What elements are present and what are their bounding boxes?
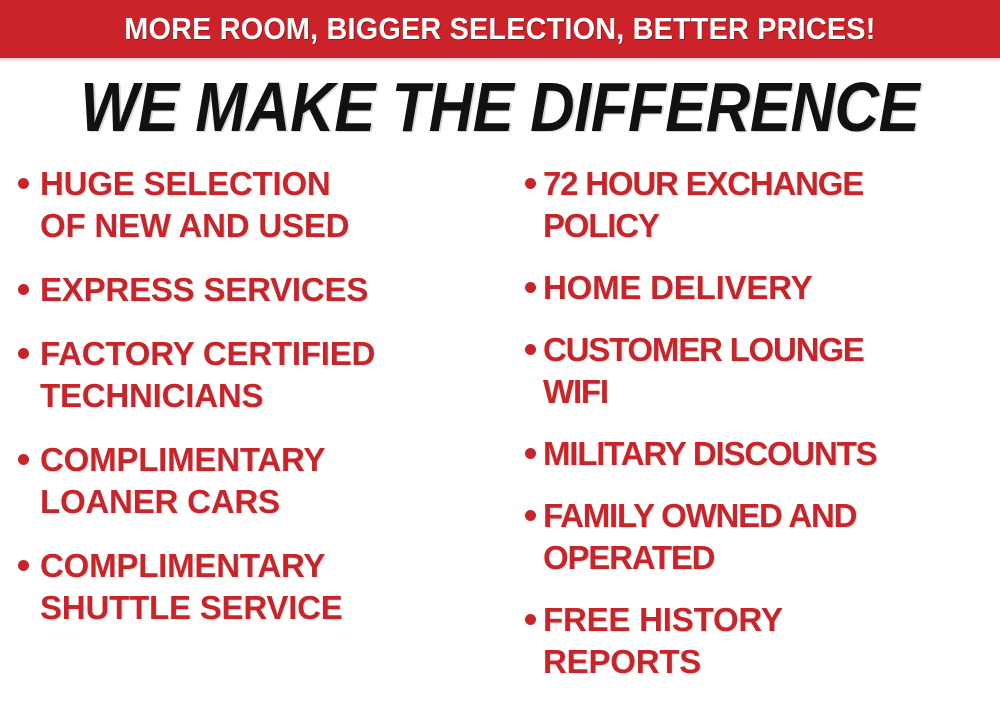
list-item-label: EXPRESS SERVICES — [40, 269, 368, 311]
list-item: COMPLIMENTARY LOANER CARS — [18, 439, 505, 523]
top-banner: MORE ROOM, BIGGER SELECTION, BETTER PRIC… — [0, 0, 1000, 58]
benefits-column-left: HUGE SELECTION OF NEW AND USED EXPRESS S… — [0, 163, 505, 703]
list-item-label: CUSTOMER LOUNGE WIFI — [543, 329, 864, 413]
list-item: 72 HOUR EXCHANGE POLICY — [525, 163, 1000, 247]
list-item: FAMILY OWNED AND OPERATED — [525, 495, 1000, 579]
list-item-label: HUGE SELECTION OF NEW AND USED — [40, 163, 349, 247]
list-item-label: COMPLIMENTARY LOANER CARS — [40, 439, 325, 523]
list-item: HUGE SELECTION OF NEW AND USED — [18, 163, 505, 247]
bullet-dot-icon — [18, 454, 29, 465]
bullet-dot-icon — [18, 178, 29, 189]
bullet-dot-icon — [18, 348, 29, 359]
top-banner-text: MORE ROOM, BIGGER SELECTION, BETTER PRIC… — [124, 11, 875, 47]
list-item: FACTORY CERTIFIED TECHNICIANS — [18, 333, 505, 417]
benefits-columns: HUGE SELECTION OF NEW AND USED EXPRESS S… — [0, 153, 1000, 703]
benefits-column-right: 72 HOUR EXCHANGE POLICY HOME DELIVERY CU… — [505, 163, 1000, 703]
page-title: WE MAKE THE DIFFERENCE — [0, 61, 1000, 153]
bullet-dot-icon — [525, 282, 536, 293]
list-item-label: COMPLIMENTARY SHUTTLE SERVICE — [40, 545, 343, 629]
bullet-dot-icon — [525, 448, 536, 459]
bullet-dot-icon — [525, 510, 536, 521]
bullet-dot-icon — [525, 178, 536, 189]
bullet-dot-icon — [18, 284, 29, 295]
bullet-dot-icon — [525, 614, 536, 625]
page-title-text: WE MAKE THE DIFFERENCE — [80, 72, 919, 142]
list-item-label: 72 HOUR EXCHANGE POLICY — [543, 163, 863, 247]
list-item-label: FAMILY OWNED AND OPERATED — [543, 495, 856, 579]
list-item: FREE HISTORY REPORTS — [525, 599, 1000, 683]
list-item: HOME DELIVERY — [525, 267, 1000, 309]
list-item-label: MILITARY DISCOUNTS — [543, 433, 876, 475]
list-item: EXPRESS SERVICES — [18, 269, 505, 311]
bullet-dot-icon — [18, 560, 29, 571]
list-item-label: FREE HISTORY REPORTS — [543, 599, 783, 683]
list-item: COMPLIMENTARY SHUTTLE SERVICE — [18, 545, 505, 629]
list-item: MILITARY DISCOUNTS — [525, 433, 1000, 475]
list-item-label: HOME DELIVERY — [543, 267, 812, 309]
list-item: CUSTOMER LOUNGE WIFI — [525, 329, 1000, 413]
bullet-dot-icon — [525, 344, 536, 355]
list-item-label: FACTORY CERTIFIED TECHNICIANS — [40, 333, 375, 417]
